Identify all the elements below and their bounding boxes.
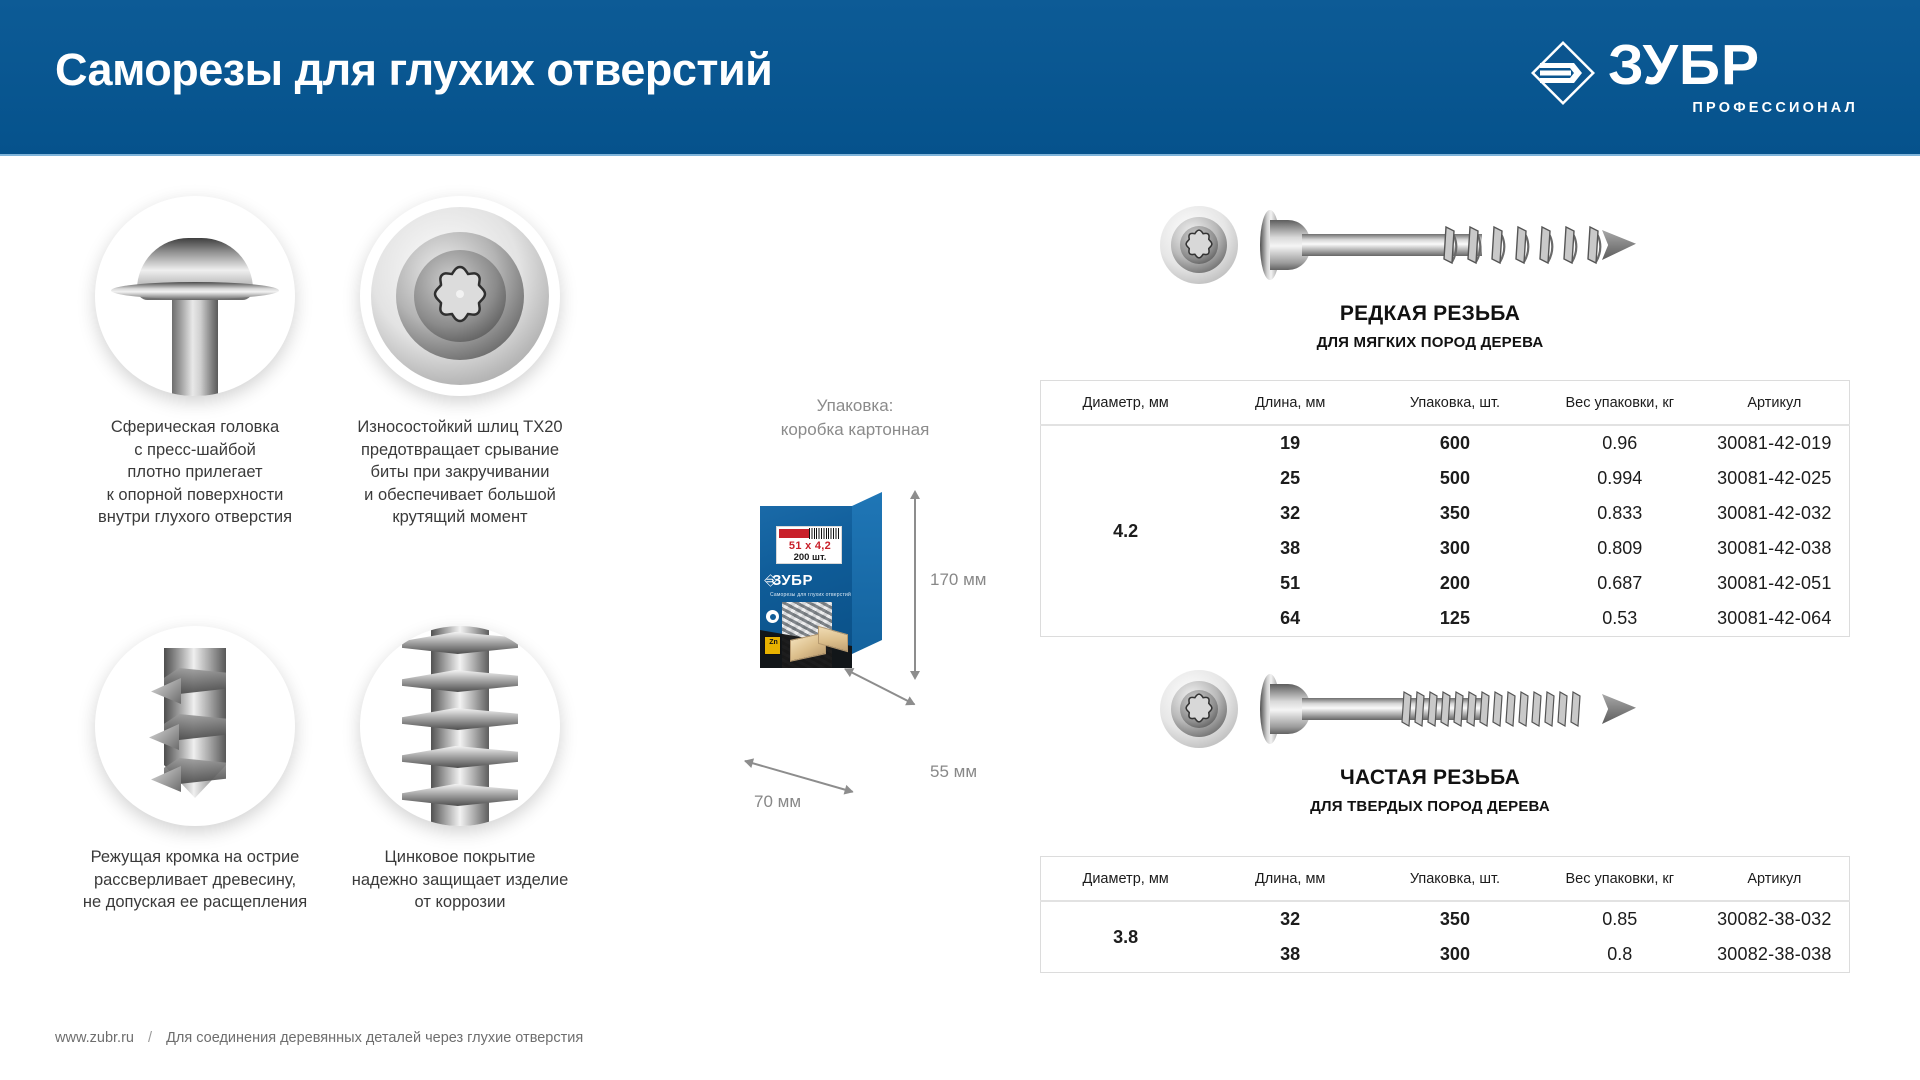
column-header-length: Длина, мм (1210, 857, 1370, 902)
cell-package: 125 (1370, 601, 1540, 637)
table-header-row: Диаметр, мм Длина, мм Упаковка, шт. Вес … (1041, 381, 1850, 426)
cell-package: 350 (1370, 901, 1540, 937)
cell-weight: 0.96 (1540, 425, 1700, 461)
cell-length: 19 (1210, 425, 1370, 461)
header-accent-rule (0, 154, 1920, 156)
screw-head-photo (95, 196, 295, 396)
cell-article: 30082-38-032 (1700, 901, 1850, 937)
sticker-red-band (779, 529, 813, 538)
spec-table-rare-thread: Диаметр, мм Длина, мм Упаковка, шт. Вес … (1040, 380, 1850, 637)
screw-fine-thread-block: ЧАСТАЯ РЕЗЬБА ДЛЯ ТВЕРДЫХ ПОРОД ДЕРЕВА (1150, 660, 1710, 815)
cell-length: 51 (1210, 566, 1370, 601)
cell-article: 30081-42-025 (1700, 461, 1850, 496)
package-label: Упаковка: коробка картонная (720, 394, 990, 442)
box-front-panel: 51 x 4,2 200 шт. ЗУБР Саморезы для глухи… (760, 506, 852, 668)
feature-cutting-tip: Режущая кромка на острие рассверливает д… (45, 626, 345, 914)
dimension-depth-label: 55 мм (930, 762, 977, 782)
screw-type-title: РЕДКАЯ РЕЗЬБА (1150, 302, 1710, 326)
screw-type-subtitle: ДЛЯ МЯГКИХ ПОРОД ДЕРЕВА (1150, 334, 1710, 351)
feature-spherical-head: Сферическая головка с пресс-шайбой плотн… (45, 196, 345, 529)
feature-zinc-coating: Цинковое покрытие надежно защищает издел… (310, 626, 610, 914)
dimension-height-label: 170 мм (930, 570, 986, 590)
cell-article: 30081-42-032 (1700, 496, 1850, 531)
box-zinc-badge: Zn (764, 636, 781, 655)
box-tagline-text: Саморезы для глухих отверстий (770, 592, 851, 598)
cell-length: 25 (1210, 461, 1370, 496)
cell-length: 64 (1210, 601, 1370, 637)
cell-length: 32 (1210, 901, 1370, 937)
torx-star-icon (1181, 691, 1217, 727)
dimension-width-arrow (745, 760, 853, 793)
feature-torx-drive: Износостойкий шлиц TX20 предотвращает ср… (310, 196, 610, 529)
column-header-diameter: Диаметр, мм (1041, 857, 1211, 902)
screw-type-subtitle: ДЛЯ ТВЕРДЫХ ПОРОД ДЕРЕВА (1150, 798, 1710, 815)
page-header: Саморезы для глухих отверстий ЗУБР ПРОФЕ… (0, 0, 1920, 156)
box-brand-text: ЗУБР (772, 572, 813, 589)
cell-weight: 0.809 (1540, 531, 1700, 566)
feature-caption: Режущая кромка на острие рассверливает д… (45, 846, 345, 914)
zubr-diamond-icon (1530, 40, 1596, 106)
box-side-brand: ЗУБР (948, 544, 970, 553)
torx-star-icon (1181, 227, 1217, 263)
table-header-row: Диаметр, мм Длина, мм Упаковка, шт. Вес … (1041, 857, 1850, 902)
feature-caption: Сферическая головка с пресс-шайбой плотн… (45, 416, 345, 529)
dimension-height-arrow (914, 498, 916, 672)
column-header-weight: Вес упаковки, кг (1540, 857, 1700, 902)
cell-package: 300 (1370, 531, 1540, 566)
cell-article: 30081-42-064 (1700, 601, 1850, 637)
box-side-panel: ЗУБР Саморезы для глухих отверстий (852, 492, 882, 654)
cell-package: 350 (1370, 496, 1540, 531)
cell-length: 32 (1210, 496, 1370, 531)
box-qty-text: 200 шт. (777, 552, 842, 563)
box-torx-icon (766, 610, 779, 623)
column-header-package: Упаковка, шт. (1370, 381, 1540, 426)
cell-diameter: 4.2 (1041, 425, 1211, 637)
logo-subtitle: ПРОФЕССИОНАЛ (1692, 100, 1858, 116)
box-size-text: 51 x 4,2 (777, 540, 842, 552)
torx-star-icon (425, 261, 495, 331)
cell-article: 30082-38-038 (1700, 937, 1850, 973)
cell-weight: 0.687 (1540, 566, 1700, 601)
cell-article: 30081-42-038 (1700, 531, 1850, 566)
brand-logo: ЗУБР ПРОФЕССИОНАЛ (1530, 34, 1860, 126)
screw-tip-photo (95, 626, 295, 826)
box-zinc-text: Zn (765, 639, 782, 646)
barcode-icon (809, 528, 839, 539)
cell-package: 600 (1370, 425, 1540, 461)
cell-weight: 0.833 (1540, 496, 1700, 531)
cell-article: 30081-42-051 (1700, 566, 1850, 601)
table-row: 4.2 19 600 0.96 30081-42-019 (1041, 425, 1850, 461)
cell-weight: 0.53 (1540, 601, 1700, 637)
screw-type-title: ЧАСТАЯ РЕЗЬБА (1150, 766, 1710, 790)
column-header-article: Артикул (1700, 381, 1850, 426)
cell-diameter: 3.8 (1041, 901, 1211, 973)
page-title: Саморезы для глухих отверстий (55, 44, 772, 96)
cell-weight: 0.85 (1540, 901, 1700, 937)
dimension-depth-arrow (845, 668, 915, 705)
feature-caption: Износостойкий шлиц TX20 предотвращает ср… (310, 416, 610, 529)
feature-caption: Цинковое покрытие надежно защищает издел… (310, 846, 610, 914)
dimension-width-label: 70 мм (754, 792, 801, 812)
cell-weight: 0.8 (1540, 937, 1700, 973)
cell-package: 300 (1370, 937, 1540, 973)
footer-url[interactable]: www.zubr.ru (55, 1030, 134, 1046)
logo-wordmark: ЗУБР (1608, 34, 1760, 96)
column-header-weight: Вес упаковки, кг (1540, 381, 1700, 426)
column-header-package: Упаковка, шт. (1370, 857, 1540, 902)
footer-note: Для соединения деревянных деталей через … (166, 1030, 583, 1046)
cell-article: 30081-42-019 (1700, 425, 1850, 461)
screw-fine-thread (1150, 660, 1710, 760)
spec-table-fine-thread: Диаметр, мм Длина, мм Упаковка, шт. Вес … (1040, 856, 1850, 973)
infographic-page: Саморезы для глухих отверстий ЗУБР ПРОФЕ… (0, 0, 1920, 1080)
package-box-illustration: ЗУБР Саморезы для глухих отверстий 51 x … (760, 492, 880, 668)
cell-length: 38 (1210, 937, 1370, 973)
cell-weight: 0.994 (1540, 461, 1700, 496)
column-header-length: Длина, мм (1210, 381, 1370, 426)
zinc-thread-photo (360, 626, 560, 826)
column-header-article: Артикул (1700, 857, 1850, 902)
cell-length: 38 (1210, 531, 1370, 566)
torx-drive-photo (360, 196, 560, 396)
cell-package: 500 (1370, 461, 1540, 496)
cell-package: 200 (1370, 566, 1540, 601)
screw-rare-thread-block: РЕДКАЯ РЕЗЬБА ДЛЯ МЯГКИХ ПОРОД ДЕРЕВА (1150, 196, 1710, 351)
column-header-diameter: Диаметр, мм (1041, 381, 1211, 426)
fine-thread-profile (1400, 686, 1640, 732)
page-footer: www.zubr.ru / Для соединения деревянных … (55, 1030, 583, 1046)
table-row: 3.8 32 350 0.85 30082-38-032 (1041, 901, 1850, 937)
footer-separator: / (148, 1030, 152, 1046)
box-sticker: 51 x 4,2 200 шт. (776, 526, 842, 564)
screw-rare-thread (1150, 196, 1710, 296)
